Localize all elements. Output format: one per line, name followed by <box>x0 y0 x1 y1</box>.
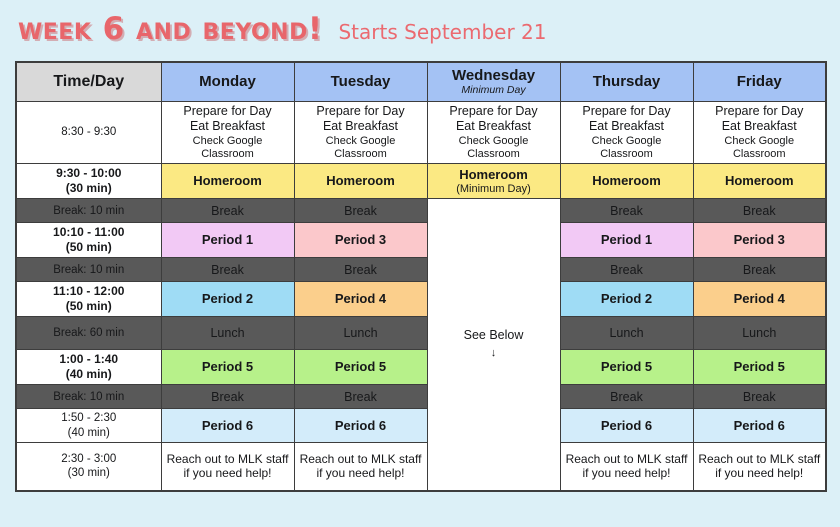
table-row: 11:10 - 12:00 (50 min) Period 2 Period 4… <box>16 282 826 317</box>
header-time-day: Time/Day <box>16 62 161 102</box>
break-label: Break: 60 min <box>16 317 161 350</box>
cell-monday-morning: Prepare for Day Eat Breakfast Check Goog… <box>161 102 294 164</box>
cell-monday-support: Reach out to MLK staff if you need help! <box>161 443 294 491</box>
time-sub: (30 min) <box>20 181 158 196</box>
cell-monday-period: Period 2 <box>161 282 294 317</box>
cell-tuesday-period: Period 6 <box>294 409 427 443</box>
weekly-schedule-table: Time/Day Monday Tuesday Wednesday Minimu… <box>15 61 827 492</box>
cell-thursday-break: Break <box>560 199 693 223</box>
page-subtitle: Starts September 21 <box>338 22 546 42</box>
text-line: Eat Breakfast <box>431 119 557 134</box>
text-line: Prepare for Day <box>564 104 690 119</box>
time-sub: (30 min) <box>20 466 158 480</box>
cell-tuesday-break: Break <box>294 199 427 223</box>
day-name-monday: Monday <box>199 73 256 90</box>
text-line: Check Google <box>298 135 424 148</box>
text-line: Classroom <box>697 148 823 161</box>
day-note-wednesday: Minimum Day <box>431 85 557 96</box>
cell-friday-break: Break <box>693 199 826 223</box>
cell-thursday-morning: Prepare for Day Eat Breakfast Check Goog… <box>560 102 693 164</box>
time-main: 10:10 - 11:00 <box>20 225 158 240</box>
cell-wednesday-see-below: See Below ↓ <box>427 199 560 491</box>
text-line: Eat Breakfast <box>298 119 424 134</box>
table-row: 1:00 - 1:40 (40 min) Period 5 Period 5 P… <box>16 350 826 385</box>
cell-thursday-lunch: Lunch <box>560 317 693 350</box>
time-main: 2:30 - 3:00 <box>20 452 158 466</box>
cell-thursday-homeroom: Homeroom <box>560 164 693 199</box>
time-main: 11:10 - 12:00 <box>20 284 158 299</box>
time-label: 9:30 - 10:00 (30 min) <box>16 164 161 199</box>
table-row: Break: 10 min Break Break See Below ↓ Br… <box>16 199 826 223</box>
break-label: Break: 10 min <box>16 385 161 409</box>
page-title-bar: Week 6 and Beyond! Starts September 21 <box>0 0 840 45</box>
text-line: Prepare for Day <box>298 104 424 119</box>
cell-friday-break: Break <box>693 258 826 282</box>
cell-thursday-break: Break <box>560 385 693 409</box>
cell-monday-break: Break <box>161 385 294 409</box>
break-label: Break: 10 min <box>16 199 161 223</box>
text-line: Homeroom <box>592 173 661 188</box>
cell-monday-break: Break <box>161 258 294 282</box>
day-name-wednesday: Wednesday <box>452 67 535 84</box>
table-row: Break: 10 min Break Break Break Break <box>16 258 826 282</box>
table-row: Break: 60 min Lunch Lunch Lunch Lunch <box>16 317 826 350</box>
time-label: 1:00 - 1:40 (40 min) <box>16 350 161 385</box>
cell-thursday-period: Period 5 <box>560 350 693 385</box>
text-line: Check Google <box>431 135 557 148</box>
cell-monday-homeroom: Homeroom <box>161 164 294 199</box>
time-label: 8:30 - 9:30 <box>16 102 161 164</box>
header-day-monday: Monday <box>161 62 294 102</box>
cell-friday-break: Break <box>693 385 826 409</box>
text-line: Prepare for Day <box>431 104 557 119</box>
text-note: (Minimum Day) <box>431 183 557 196</box>
text-line: Prepare for Day <box>165 104 291 119</box>
table-row: 10:10 - 11:00 (50 min) Period 1 Period 3… <box>16 223 826 258</box>
text-line: Check Google <box>165 135 291 148</box>
break-label: Break: 10 min <box>16 258 161 282</box>
cell-tuesday-support: Reach out to MLK staff if you need help! <box>294 443 427 491</box>
time-main: 1:50 - 2:30 <box>20 411 158 425</box>
time-label: 2:30 - 3:00 (30 min) <box>16 443 161 491</box>
schedule-container: Time/Day Monday Tuesday Wednesday Minimu… <box>0 45 840 492</box>
header-day-thursday: Thursday <box>560 62 693 102</box>
text-line: Check Google <box>564 135 690 148</box>
cell-thursday-support: Reach out to MLK staff if you need help! <box>560 443 693 491</box>
text-line: Check Google <box>697 135 823 148</box>
time-label: 10:10 - 11:00 (50 min) <box>16 223 161 258</box>
cell-thursday-period: Period 6 <box>560 409 693 443</box>
cell-tuesday-homeroom: Homeroom <box>294 164 427 199</box>
day-name-friday: Friday <box>737 73 782 90</box>
see-below-text: See Below <box>464 328 524 342</box>
day-name-thursday: Thursday <box>593 73 661 90</box>
table-row: 8:30 - 9:30 Prepare for Day Eat Breakfas… <box>16 102 826 164</box>
cell-friday-homeroom: Homeroom <box>693 164 826 199</box>
cell-friday-period: Period 5 <box>693 350 826 385</box>
cell-thursday-period: Period 1 <box>560 223 693 258</box>
cell-wednesday-morning: Prepare for Day Eat Breakfast Check Goog… <box>427 102 560 164</box>
time-sub: (50 min) <box>20 240 158 255</box>
text-line: Classroom <box>165 148 291 161</box>
cell-tuesday-morning: Prepare for Day Eat Breakfast Check Goog… <box>294 102 427 164</box>
down-arrow-icon: ↓ <box>431 346 557 361</box>
cell-thursday-break: Break <box>560 258 693 282</box>
time-main: 9:30 - 10:00 <box>20 166 158 181</box>
text-line: Homeroom <box>326 173 395 188</box>
cell-monday-period: Period 1 <box>161 223 294 258</box>
cell-monday-break: Break <box>161 199 294 223</box>
cell-tuesday-break: Break <box>294 385 427 409</box>
text-line: Classroom <box>564 148 690 161</box>
text-line: Eat Breakfast <box>697 119 823 134</box>
table-row: 2:30 - 3:00 (30 min) Reach out to MLK st… <box>16 443 826 491</box>
cell-friday-lunch: Lunch <box>693 317 826 350</box>
cell-friday-period: Period 3 <box>693 223 826 258</box>
time-sub: (40 min) <box>20 367 158 382</box>
cell-tuesday-break: Break <box>294 258 427 282</box>
cell-wednesday-homeroom: Homeroom (Minimum Day) <box>427 164 560 199</box>
day-name-tuesday: Tuesday <box>331 73 391 90</box>
table-row: Break: 10 min Break Break Break Break <box>16 385 826 409</box>
text-line: Homeroom <box>725 173 794 188</box>
cell-friday-period: Period 6 <box>693 409 826 443</box>
cell-tuesday-lunch: Lunch <box>294 317 427 350</box>
time-sub: (50 min) <box>20 299 158 314</box>
cell-monday-lunch: Lunch <box>161 317 294 350</box>
text-line: Eat Breakfast <box>165 119 291 134</box>
cell-friday-morning: Prepare for Day Eat Breakfast Check Goog… <box>693 102 826 164</box>
time-main: 8:30 - 9:30 <box>20 125 158 139</box>
page-title: Week 6 and Beyond! <box>18 14 322 45</box>
header-day-wednesday: Wednesday Minimum Day <box>427 62 560 102</box>
time-label: 11:10 - 12:00 (50 min) <box>16 282 161 317</box>
text-line: Classroom <box>298 148 424 161</box>
text-line: Homeroom <box>193 173 262 188</box>
table-row: 9:30 - 10:00 (30 min) Homeroom Homeroom … <box>16 164 826 199</box>
text-line: Homeroom <box>459 167 528 182</box>
cell-tuesday-period: Period 4 <box>294 282 427 317</box>
text-line: Prepare for Day <box>697 104 823 119</box>
text-line: Eat Breakfast <box>564 119 690 134</box>
table-row: 1:50 - 2:30 (40 min) Period 6 Period 6 P… <box>16 409 826 443</box>
cell-tuesday-period: Period 5 <box>294 350 427 385</box>
text-line: Classroom <box>431 148 557 161</box>
cell-thursday-period: Period 2 <box>560 282 693 317</box>
header-day-tuesday: Tuesday <box>294 62 427 102</box>
cell-tuesday-period: Period 3 <box>294 223 427 258</box>
time-sub: (40 min) <box>20 426 158 440</box>
cell-friday-support: Reach out to MLK staff if you need help! <box>693 443 826 491</box>
header-day-friday: Friday <box>693 62 826 102</box>
table-header-row: Time/Day Monday Tuesday Wednesday Minimu… <box>16 62 826 102</box>
cell-friday-period: Period 4 <box>693 282 826 317</box>
time-label: 1:50 - 2:30 (40 min) <box>16 409 161 443</box>
cell-monday-period: Period 6 <box>161 409 294 443</box>
cell-monday-period: Period 5 <box>161 350 294 385</box>
time-main: 1:00 - 1:40 <box>20 352 158 367</box>
